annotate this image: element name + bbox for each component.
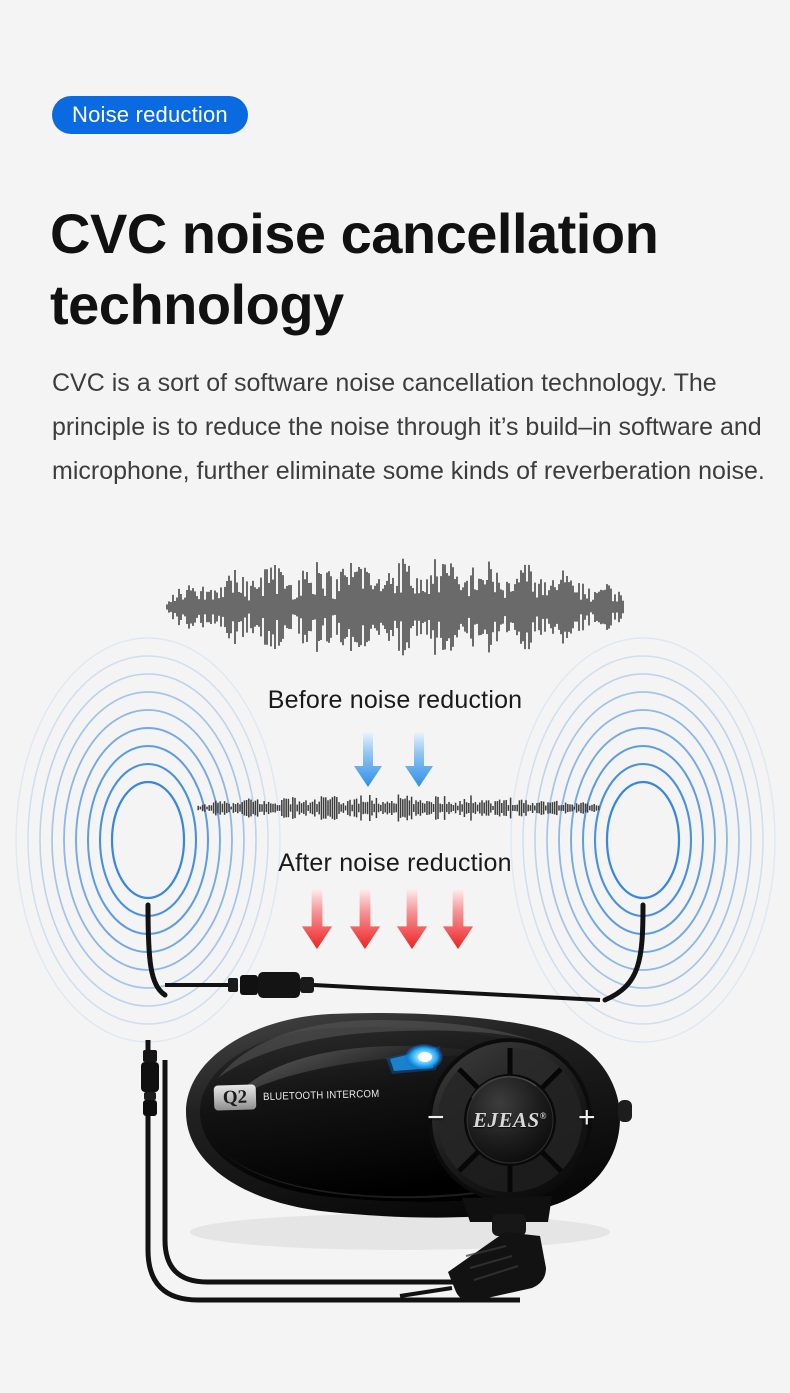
arrows-red (302, 890, 473, 949)
arrows-blue (354, 732, 433, 787)
volume-up-icon[interactable]: + (578, 1106, 596, 1130)
device-cable-left (148, 1040, 520, 1300)
before-noise-reduction-label: Before noise reduction (0, 686, 790, 715)
audio-jack (141, 1050, 159, 1116)
waveform-before (165, 559, 625, 656)
right-angle-plug (400, 1232, 546, 1301)
registered-mark-icon: ® (540, 1111, 547, 1121)
after-noise-reduction-label: After noise reduction (0, 849, 790, 878)
description-text: CVC is a sort of software noise cancella… (52, 361, 782, 493)
device-type-label: BLUETOOTH INTERCOM (263, 1088, 380, 1103)
noise-reduction-badge: Noise reduction (52, 96, 248, 134)
waveform-after (196, 795, 599, 822)
device-brand-logo: EJEAS® (470, 1108, 550, 1133)
product-feature-page: Noise reduction CVC noise cancellation t… (0, 0, 790, 1393)
brand-name: EJEAS (473, 1108, 540, 1132)
led-indicator (386, 1044, 443, 1074)
cable-connector (165, 972, 600, 1000)
earbud-cables (148, 905, 643, 1000)
volume-down-icon[interactable]: − (427, 1106, 445, 1130)
page-title: CVC noise cancellation technology (50, 198, 750, 341)
device-model-badge: Q2 (214, 1084, 257, 1110)
intercom-device (186, 1013, 632, 1250)
